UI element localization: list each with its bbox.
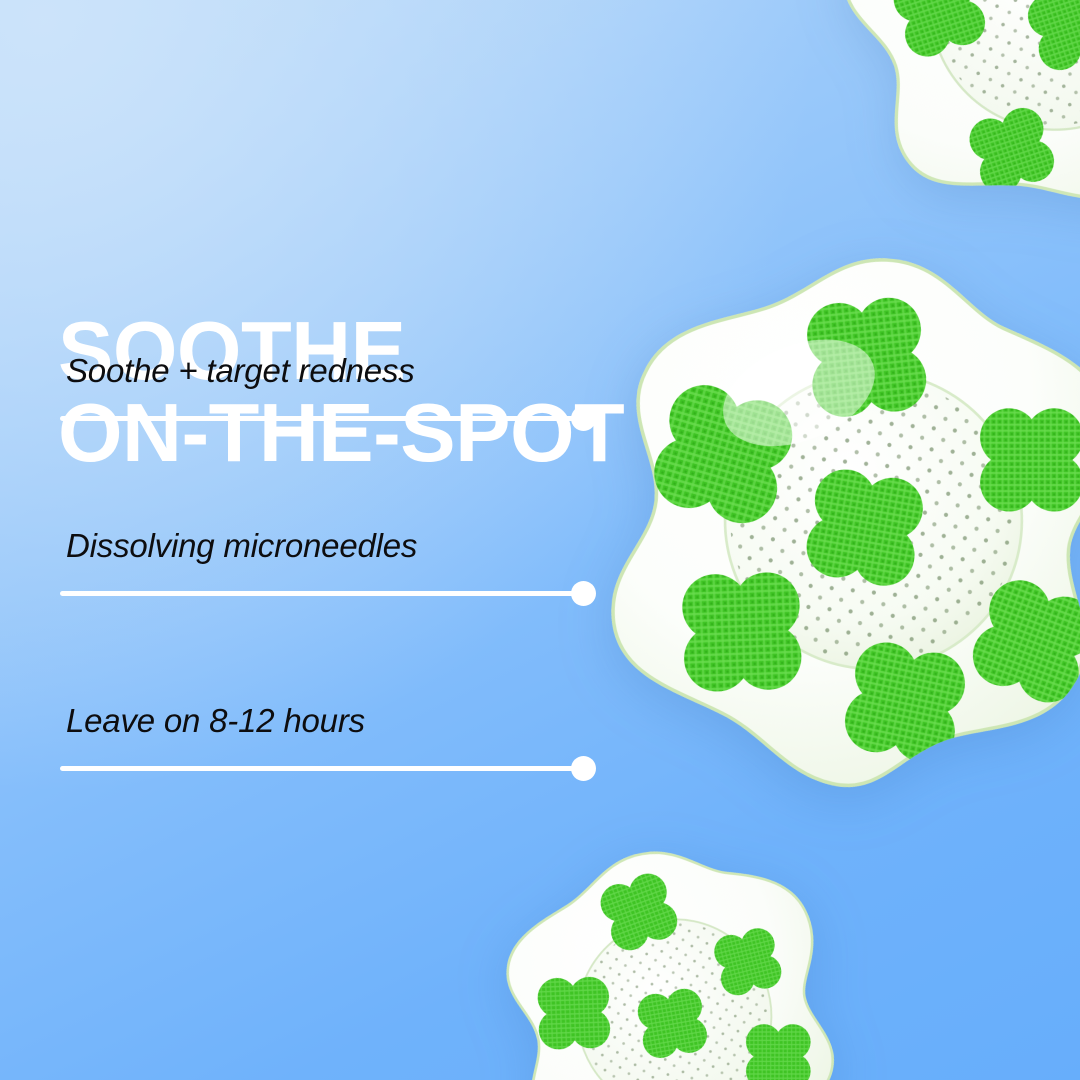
- feature-dot-marker: [571, 406, 596, 431]
- feature-list: Soothe + target redness Dissolving micro…: [0, 352, 620, 877]
- product-patch-main: [572, 219, 1080, 831]
- feature-label: Dissolving microneedles: [66, 527, 417, 565]
- feature-item: Leave on 8-12 hours: [0, 702, 620, 877]
- feature-item: Soothe + target redness: [0, 352, 620, 527]
- promo-poster: SOOTHEON-THE-SPOT Soothe + target rednes…: [0, 0, 1080, 1080]
- feature-rule: [60, 591, 584, 596]
- product-patch-top-right: [784, 0, 1080, 276]
- feature-rule: [60, 416, 584, 421]
- feature-rule: [60, 766, 584, 771]
- feature-item: Dissolving microneedles: [0, 527, 620, 702]
- feature-label: Leave on 8-12 hours: [66, 702, 365, 740]
- feature-dot-marker: [571, 581, 596, 606]
- feature-label: Soothe + target redness: [66, 352, 415, 390]
- feature-dot-marker: [571, 756, 596, 781]
